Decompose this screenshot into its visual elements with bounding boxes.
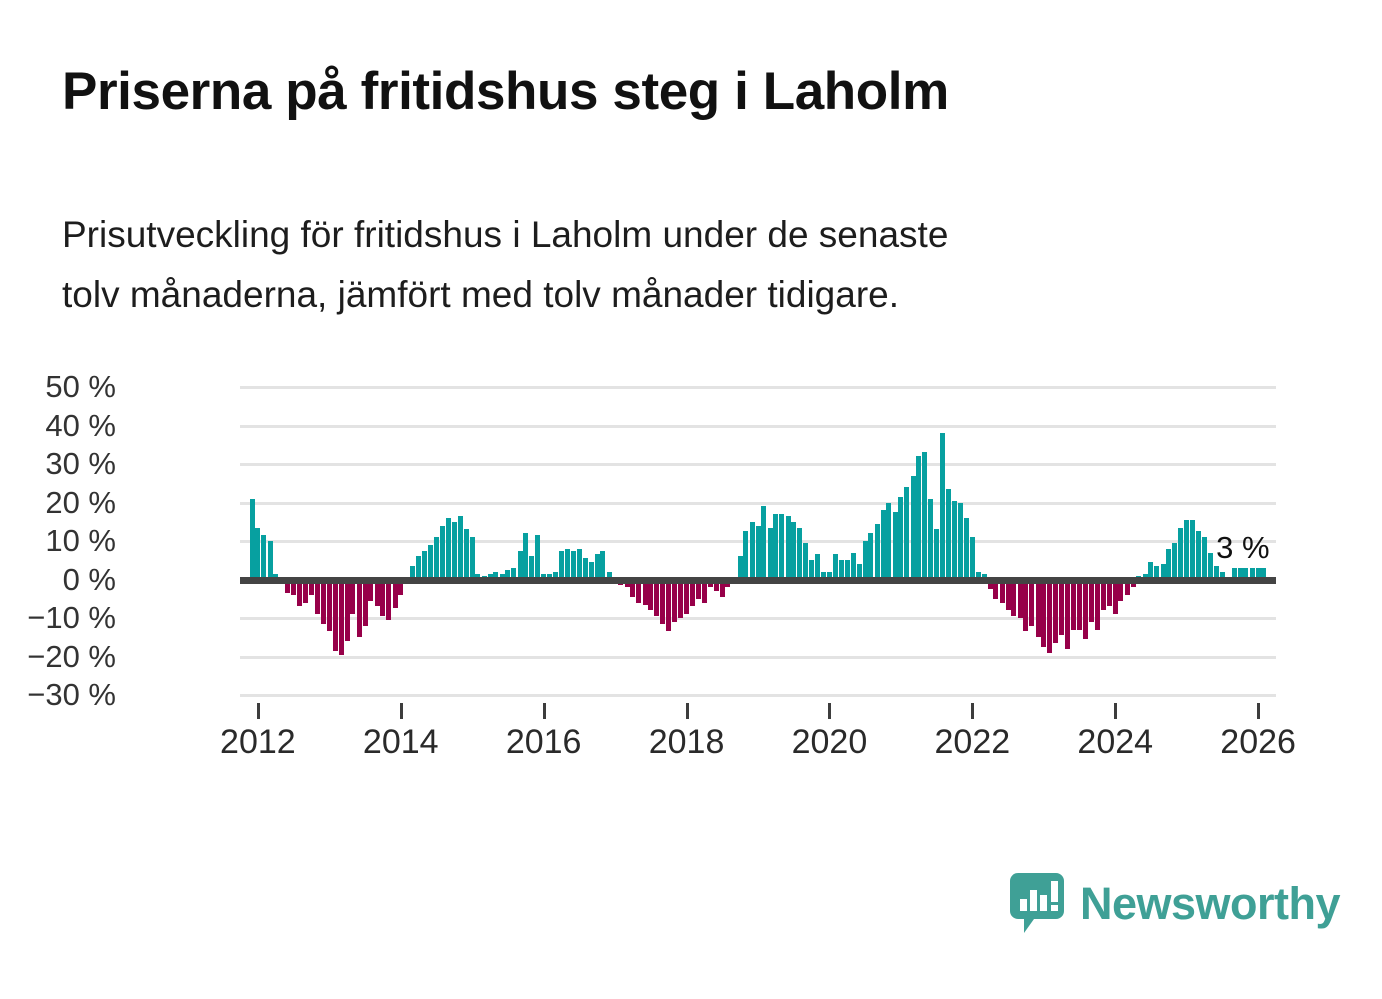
bar	[946, 489, 951, 579]
bar	[363, 580, 368, 626]
bar	[386, 580, 391, 620]
bar	[684, 580, 689, 615]
x-axis-tick-label: 2018	[627, 723, 747, 762]
x-axis-tick-mark	[971, 703, 974, 719]
x-axis-tick-mark	[543, 703, 546, 719]
bar	[1047, 580, 1052, 653]
bar	[893, 512, 898, 579]
bar	[559, 551, 564, 580]
bar	[1208, 553, 1213, 580]
bar	[1113, 580, 1118, 615]
x-axis-tick-label: 2022	[912, 723, 1032, 762]
bar	[315, 580, 320, 615]
zero-line	[240, 577, 1276, 584]
bar	[1059, 580, 1064, 636]
bar	[428, 545, 433, 580]
gridline	[240, 386, 1276, 389]
bar	[743, 531, 748, 579]
bar	[970, 537, 975, 579]
bar	[1101, 580, 1106, 611]
bar	[678, 580, 683, 619]
subtitle-line-2: tolv månaderna, jämfört med tolv månader…	[62, 265, 1292, 325]
bar	[958, 503, 963, 580]
bar	[380, 580, 385, 617]
bar	[761, 506, 766, 579]
bar	[768, 528, 773, 580]
y-axis-tick-label: 30 %	[0, 448, 116, 479]
bar	[268, 541, 273, 580]
bar	[458, 516, 463, 580]
bar	[393, 580, 398, 609]
bar	[1006, 580, 1011, 611]
y-axis-tick-label: −30 %	[0, 679, 116, 710]
bar	[1071, 580, 1076, 630]
bar	[1184, 520, 1189, 580]
bar	[571, 551, 576, 580]
y-axis-tick-label: 10 %	[0, 525, 116, 556]
bar	[886, 503, 891, 580]
bar	[565, 549, 570, 580]
bar	[666, 580, 671, 632]
bar	[518, 551, 523, 580]
bar	[345, 580, 350, 642]
x-axis-tick-mark	[400, 703, 403, 719]
y-axis-tick-label: 40 %	[0, 410, 116, 441]
bar	[750, 522, 755, 580]
bar	[446, 518, 451, 580]
bar	[470, 537, 475, 579]
infographic-page: Priserna på fritidshus steg i Laholm Pri…	[0, 0, 1382, 999]
bar	[440, 526, 445, 580]
page-title: Priserna på fritidshus steg i Laholm	[62, 62, 1322, 121]
x-axis-tick-label: 2026	[1198, 723, 1318, 762]
bar	[779, 514, 784, 579]
bar	[791, 522, 796, 580]
newsworthy-logo: Newsworthy	[1008, 868, 1328, 938]
bar	[1083, 580, 1088, 640]
bar	[1202, 537, 1207, 579]
bar	[690, 580, 695, 607]
bar	[434, 537, 439, 579]
bar	[803, 543, 808, 580]
bar-chart-exclamation-bubble-icon	[1008, 871, 1066, 935]
bar	[964, 518, 969, 580]
bar	[1065, 580, 1070, 649]
y-axis-tick-label: 20 %	[0, 487, 116, 518]
x-axis-tick-label: 2020	[769, 723, 889, 762]
y-axis-tick-label: 50 %	[0, 371, 116, 402]
gridline	[240, 656, 1276, 659]
bar	[250, 499, 255, 580]
bar	[255, 528, 260, 580]
x-axis-tick-mark	[828, 703, 831, 719]
bar	[660, 580, 665, 624]
bar	[875, 524, 880, 580]
bar	[1172, 543, 1177, 580]
gridline	[240, 425, 1276, 428]
bar-chart: 50 %40 %30 %20 %10 %0 %−10 %−20 %−30 %3 …	[0, 360, 1382, 780]
x-axis-tick-label: 2012	[198, 723, 318, 762]
x-axis-tick-label: 2024	[1055, 723, 1175, 762]
bar	[868, 533, 873, 579]
page-subtitle: Prisutveckling för fritidshus i Laholm u…	[62, 205, 1292, 325]
bar	[654, 580, 659, 617]
gridline	[240, 463, 1276, 466]
x-axis: 20122014201620182020202220242026	[240, 695, 1276, 785]
bar	[422, 551, 427, 580]
bar	[648, 580, 653, 611]
bar	[1095, 580, 1100, 630]
bar	[327, 580, 332, 632]
bar	[1089, 580, 1094, 622]
bar	[797, 528, 802, 580]
x-axis-tick-mark	[1114, 703, 1117, 719]
bar	[916, 456, 921, 579]
bar	[1041, 580, 1046, 647]
x-axis-tick-mark	[1257, 703, 1260, 719]
bar	[464, 529, 469, 579]
bar	[773, 514, 778, 579]
bar	[786, 516, 791, 580]
bar	[1196, 531, 1201, 579]
y-axis-tick-label: −10 %	[0, 602, 116, 633]
bar	[600, 551, 605, 580]
bar	[339, 580, 344, 655]
logo-wordmark: Newsworthy	[1080, 881, 1340, 926]
bar	[952, 501, 957, 580]
bar	[934, 529, 939, 579]
y-axis-tick-label: −20 %	[0, 641, 116, 672]
bar	[1190, 520, 1195, 580]
bar	[863, 541, 868, 580]
bar	[1023, 580, 1028, 632]
plot-area: 50 %40 %30 %20 %10 %0 %−10 %−20 %−30 %3 …	[240, 387, 1276, 695]
bar	[535, 535, 540, 579]
bar	[1107, 580, 1112, 607]
bar	[1011, 580, 1016, 617]
x-axis-tick-mark	[686, 703, 689, 719]
bar	[452, 522, 457, 580]
bar	[1178, 528, 1183, 580]
bar	[297, 580, 302, 607]
bar	[1166, 549, 1171, 580]
bar	[922, 452, 927, 579]
bar	[261, 535, 266, 579]
bar	[357, 580, 362, 638]
gridline	[240, 617, 1276, 620]
value-annotation: 3 %	[1216, 530, 1269, 566]
bar	[375, 580, 380, 607]
x-axis-tick-label: 2016	[484, 723, 604, 762]
bar	[1077, 580, 1082, 630]
bar	[851, 553, 856, 580]
bar	[672, 580, 677, 622]
bar	[1029, 580, 1034, 626]
bar	[911, 476, 916, 580]
bar	[333, 580, 338, 651]
bar	[321, 580, 326, 624]
subtitle-line-1: Prisutveckling för fritidshus i Laholm u…	[62, 205, 1292, 265]
x-axis-tick-label: 2014	[341, 723, 461, 762]
bar	[523, 533, 528, 579]
bar	[577, 549, 582, 580]
y-axis-tick-label: 0 %	[0, 564, 116, 595]
bar	[898, 497, 903, 580]
bar	[940, 433, 945, 579]
bar	[350, 580, 355, 615]
bar	[881, 510, 886, 579]
bar	[756, 526, 761, 580]
bar	[1036, 580, 1041, 638]
bar	[928, 499, 933, 580]
bar	[1018, 580, 1023, 619]
bar	[904, 487, 909, 579]
x-axis-tick-mark	[257, 703, 260, 719]
bar	[1053, 580, 1058, 644]
gridline	[240, 502, 1276, 505]
